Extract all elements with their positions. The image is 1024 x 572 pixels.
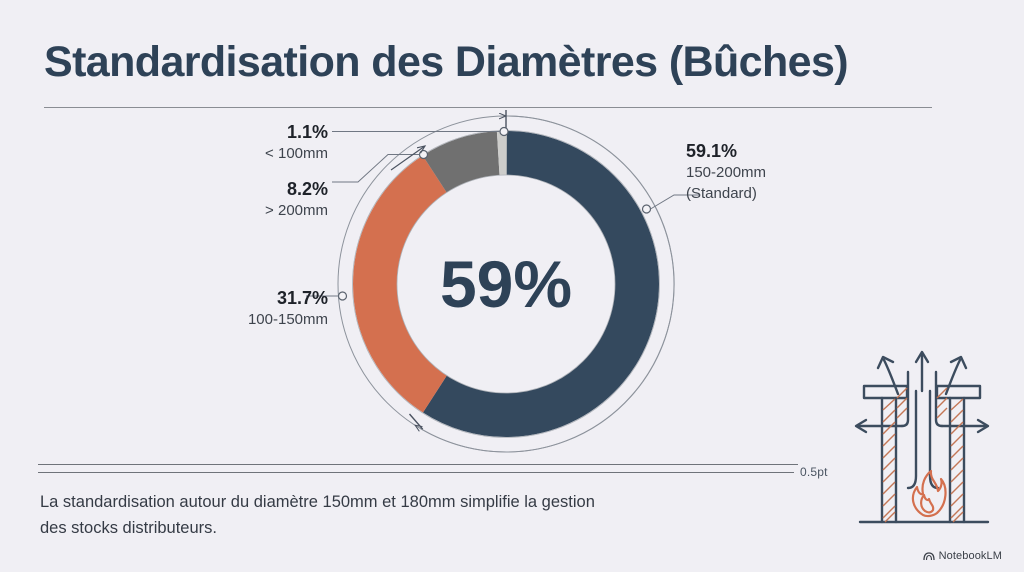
callout-mid-sub: 100-150mm	[128, 309, 328, 330]
caption-text: La standardisation autour du diamètre 15…	[40, 489, 600, 541]
stove-flue-icon	[852, 336, 1004, 536]
callout-large: 8.2% > 200mm	[168, 179, 328, 221]
caption-divider-upper	[38, 464, 798, 465]
center-value: 59%	[440, 247, 572, 321]
watermark: NotebookLM	[923, 550, 1002, 562]
leader-dot-large	[420, 151, 428, 159]
callout-standard-sub2: (Standard)	[686, 183, 886, 204]
slide-root: Standardisation des Diamètres (Bûches)	[0, 0, 1024, 572]
callout-standard-pct: 59.1%	[686, 141, 886, 162]
notebooklm-icon	[923, 550, 935, 562]
callout-standard: 59.1% 150-200mm (Standard)	[686, 141, 886, 204]
callout-mid: 31.7% 100-150mm	[128, 288, 328, 330]
callout-small-sub: < 100mm	[168, 143, 328, 164]
watermark-label: NotebookLM	[939, 550, 1002, 562]
callout-small-pct: 1.1%	[168, 122, 328, 143]
callout-standard-sub1: 150-200mm	[686, 162, 886, 183]
callout-large-sub: > 200mm	[168, 200, 328, 221]
callout-mid-pct: 31.7%	[128, 288, 328, 309]
leader-dot-mid	[339, 292, 347, 300]
donut-chart: 59%	[296, 108, 716, 460]
callout-large-pct: 8.2%	[168, 179, 328, 200]
caption-divider-lower	[38, 472, 794, 473]
callout-small: 1.1% < 100mm	[168, 122, 328, 164]
leader-dot-small	[500, 128, 508, 136]
page-title: Standardisation des Diamètres (Bûches)	[44, 38, 848, 87]
dimension-tick-bottom	[410, 414, 423, 429]
leader-dot-standard	[643, 205, 651, 213]
line-weight-label: 0.5pt	[800, 465, 828, 479]
